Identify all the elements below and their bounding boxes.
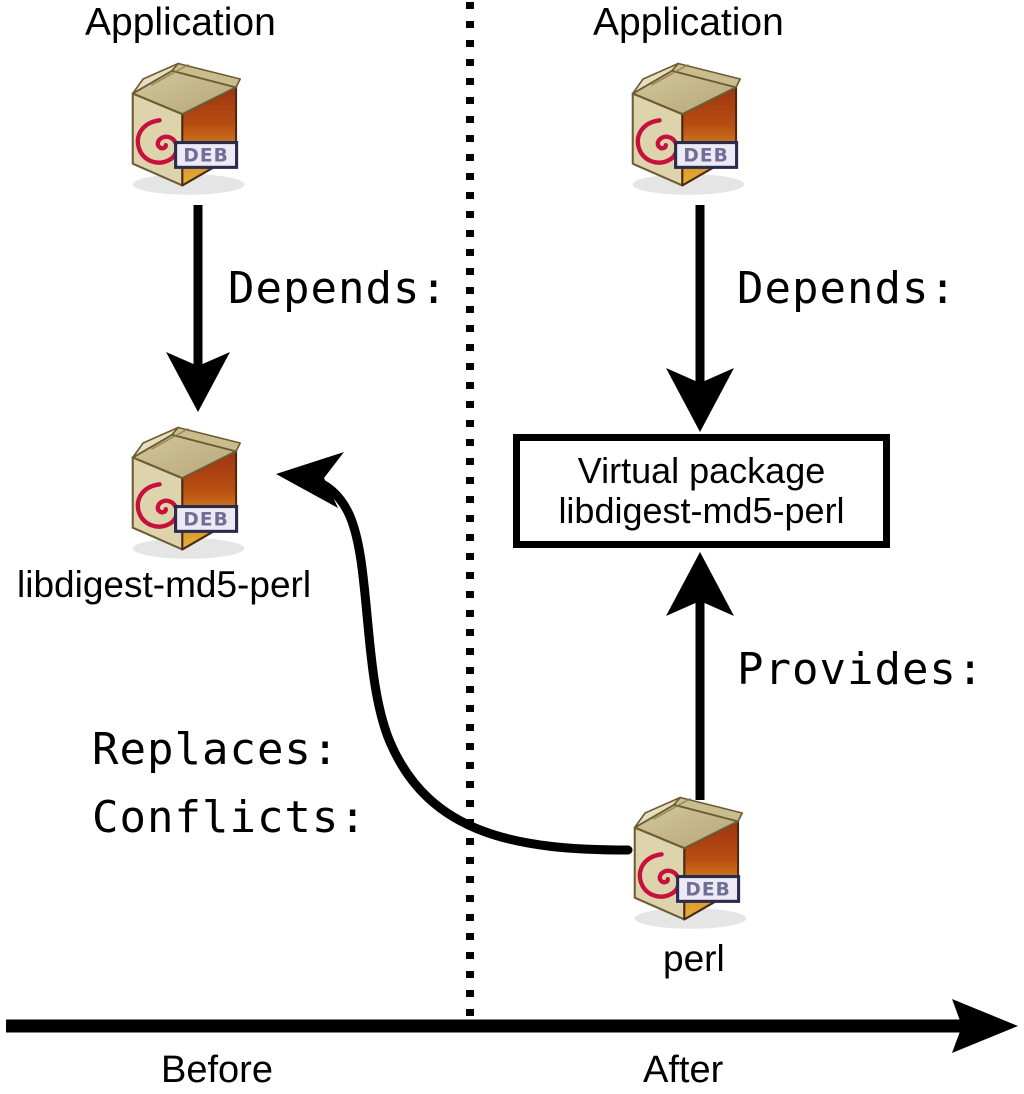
debian-package-icon-libdigest-md5-perl [133, 428, 245, 559]
depends-arrow-after [666, 205, 734, 432]
depends-label-after: Depends: [737, 267, 957, 311]
app-title-after: Application [593, 3, 784, 42]
depends-arrow-before [166, 205, 230, 412]
package-label-perl: perl [663, 940, 725, 977]
debian-package-icon-app-after [633, 64, 745, 195]
provides-label: Provides: [737, 648, 984, 692]
diagram-canvas: DEB [0, 0, 1024, 1094]
conflicts-label: Conflicts: [92, 796, 367, 840]
package-label-libdigest-md5-perl: libdigest-md5-perl [17, 566, 311, 603]
depends-label-before: Depends: [228, 267, 448, 311]
virtual-package-line-2: libdigest-md5-perl [558, 491, 844, 531]
timeline-label-before: Before [161, 1051, 273, 1089]
app-title-before: Application [85, 3, 276, 42]
virtual-package-line-1: Virtual package [578, 451, 826, 491]
provides-arrow [666, 552, 734, 800]
debian-package-icon-app-before [133, 64, 245, 195]
debian-package-icon-perl [635, 798, 747, 929]
virtual-package-box: Virtual package libdigest-md5-perl [513, 434, 890, 548]
replaces-label: Replaces: [92, 728, 339, 772]
timeline-arrow-right-icon [6, 999, 1018, 1053]
timeline-label-after: After [643, 1051, 723, 1089]
